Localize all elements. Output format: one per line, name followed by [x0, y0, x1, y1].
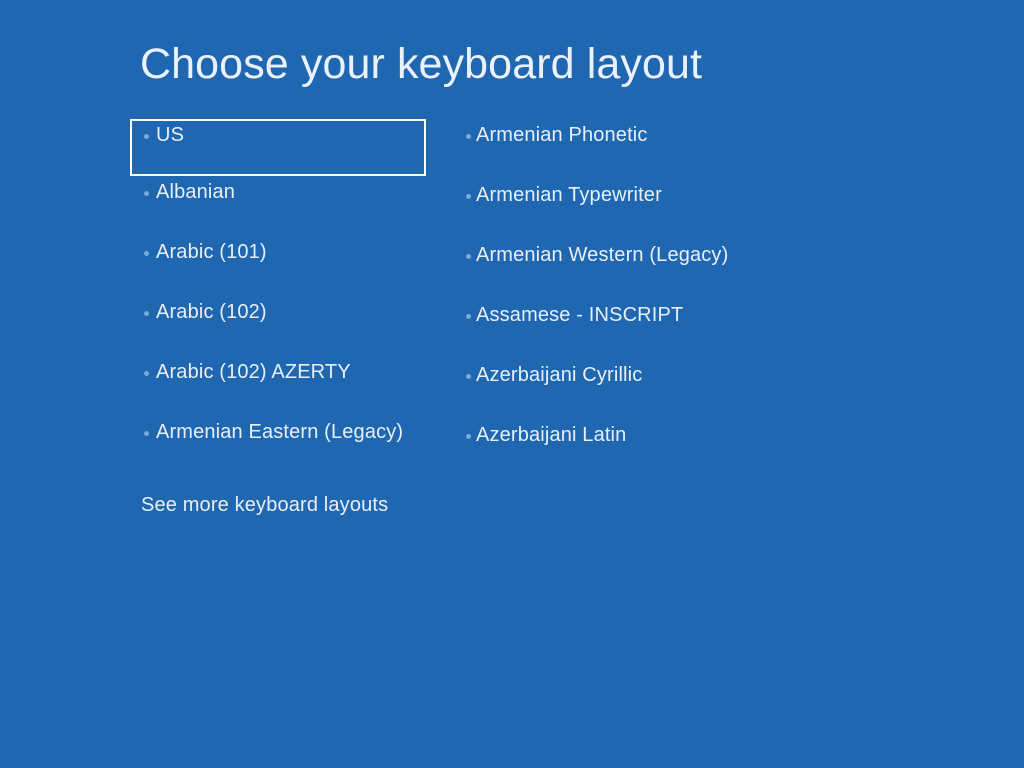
layout-option-arabic-102[interactable]: Arabic (102)	[132, 296, 426, 356]
layout-option-armenian-western-legacy[interactable]: Armenian Western (Legacy)	[452, 239, 792, 299]
bullet-dot-icon	[466, 374, 471, 379]
layout-option-azerbaijani-latin[interactable]: Azerbaijani Latin	[452, 419, 792, 479]
layout-option-label: Armenian Phonetic	[476, 119, 648, 148]
bullet-dot-icon	[466, 194, 471, 199]
bullet-dot-icon	[466, 134, 471, 139]
layout-option-label: Arabic (101)	[156, 236, 267, 265]
see-more-keyboard-layouts-link[interactable]: See more keyboard layouts	[141, 492, 388, 518]
layout-option-albanian[interactable]: Albanian	[132, 176, 426, 236]
bullet-dot-icon	[144, 134, 149, 139]
bullet-dot-icon	[466, 434, 471, 439]
layout-option-armenian-eastern-legacy[interactable]: Armenian Eastern (Legacy)	[132, 416, 426, 476]
layout-option-label: Assamese - INSCRIPT	[476, 299, 683, 328]
layout-option-label: Azerbaijani Cyrillic	[476, 359, 642, 388]
bullet-dot-icon	[144, 431, 149, 436]
layout-option-armenian-typewriter[interactable]: Armenian Typewriter	[452, 179, 792, 239]
layout-option-assamese-inscript[interactable]: Assamese - INSCRIPT	[452, 299, 792, 359]
layout-column-left: US Albanian Arabic (101) Arabic (102) Ar…	[132, 119, 426, 476]
layout-option-arabic-101[interactable]: Arabic (101)	[132, 236, 426, 296]
layout-option-label: Albanian	[156, 176, 235, 205]
layout-option-label: Arabic (102) AZERTY	[156, 356, 351, 385]
keyboard-layout-screen: Choose your keyboard layout US Albanian …	[0, 0, 1024, 768]
layout-column-right: Armenian Phonetic Armenian Typewriter Ar…	[452, 119, 792, 479]
bullet-dot-icon	[466, 254, 471, 259]
bullet-dot-icon	[144, 191, 149, 196]
bullet-dot-icon	[466, 314, 471, 319]
layout-option-armenian-phonetic[interactable]: Armenian Phonetic	[452, 119, 792, 179]
bullet-dot-icon	[144, 311, 149, 316]
layout-option-label: Armenian Western (Legacy)	[476, 239, 728, 268]
layout-option-label: US	[156, 121, 184, 148]
bullet-dot-icon	[144, 371, 149, 376]
layout-option-arabic-102-azerty[interactable]: Arabic (102) AZERTY	[132, 356, 426, 416]
layout-option-us[interactable]: US	[130, 119, 426, 176]
layout-option-label: Arabic (102)	[156, 296, 267, 325]
layout-option-label: Azerbaijani Latin	[476, 419, 626, 448]
layout-option-label: Armenian Typewriter	[476, 179, 662, 208]
layout-option-label: Armenian Eastern (Legacy)	[156, 416, 403, 445]
page-title: Choose your keyboard layout	[140, 38, 702, 91]
layout-option-azerbaijani-cyrillic[interactable]: Azerbaijani Cyrillic	[452, 359, 792, 419]
bullet-dot-icon	[144, 251, 149, 256]
